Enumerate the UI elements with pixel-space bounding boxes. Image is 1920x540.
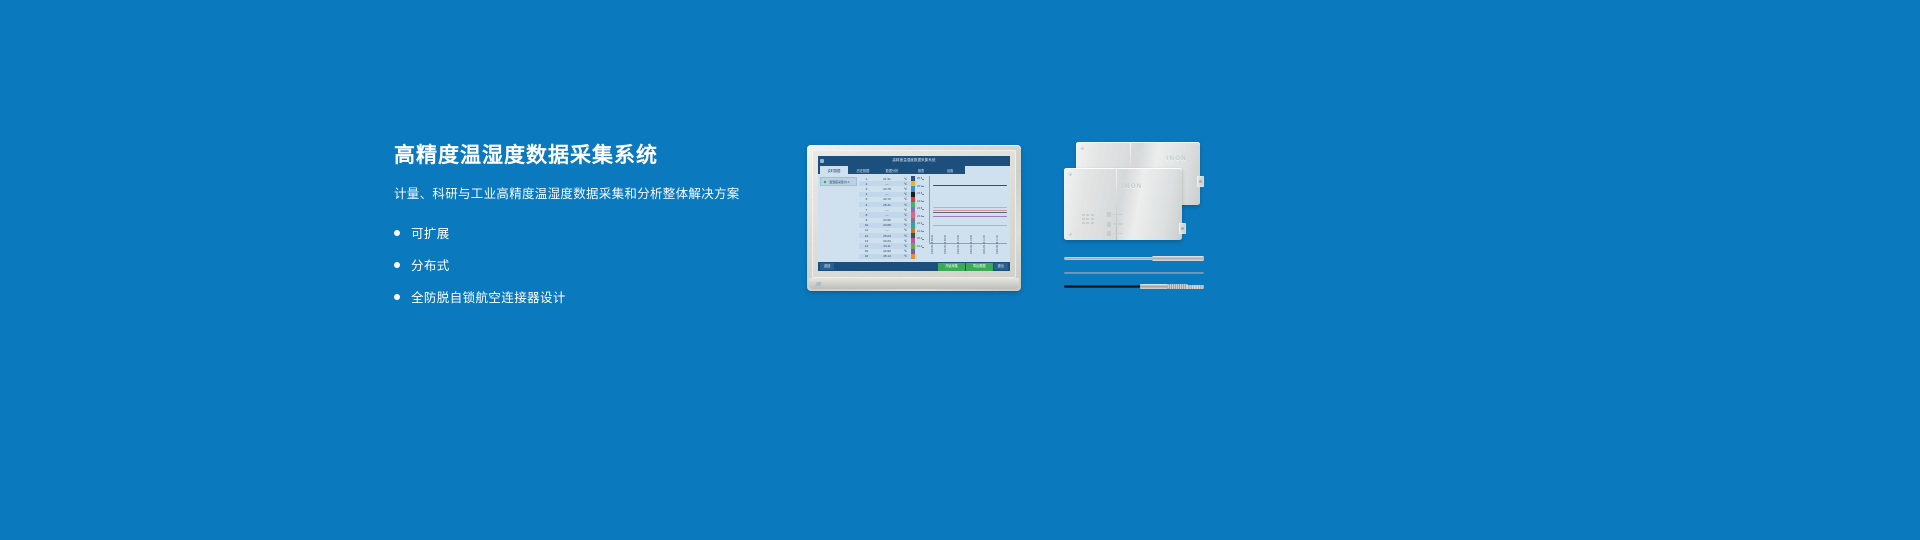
y-axis-tick-label: 20.0 <box>917 237 922 240</box>
plot-canvas <box>929 176 1007 244</box>
tab-analysis[interactable]: 数据分析 <box>878 166 906 174</box>
table-row[interactable]: 524.72℃ <box>859 197 917 202</box>
x-axis-tick-label: 2023-05-18 10:00 <box>957 235 960 254</box>
plot-area: 25.525.024.524.023.523.022.021.020.019.0… <box>917 176 1008 254</box>
channel-unit: ℃ <box>900 218 911 222</box>
chart-series-line <box>933 210 1007 211</box>
table-row[interactable]: 1324.23℃ <box>859 238 917 243</box>
channel-unit: ℃ <box>900 182 911 186</box>
channel-number: 1 <box>859 177 874 181</box>
bottom-button-group: 开始采集 导出数据 退出 <box>938 263 1008 271</box>
probe-cable <box>1064 272 1204 274</box>
tab-settings[interactable]: 设置 <box>936 166 964 174</box>
tab-realtime[interactable]: 实时数据 <box>820 166 848 174</box>
bullet-dot-icon <box>394 294 400 300</box>
list-item: 可扩展 <box>394 220 794 245</box>
channel-number: 13 <box>859 239 874 243</box>
table-row[interactable]: 924.96℃ <box>859 218 917 223</box>
channel-value: --- <box>874 208 900 212</box>
probe-rtd <box>1064 256 1204 261</box>
enclosure-front: INON <box>1064 168 1182 240</box>
bullet-dot-icon <box>394 230 400 236</box>
bullet-dot-icon <box>394 262 400 268</box>
brand-logo-back: INON <box>1166 156 1187 162</box>
channel-value: --- <box>874 182 900 186</box>
channel-unit: ℃ <box>900 244 911 248</box>
y-axis: 25.525.024.524.023.523.022.021.020.019.0 <box>917 176 928 254</box>
tab-report[interactable]: 报表 <box>907 166 935 174</box>
channel-number: 16 <box>859 254 874 258</box>
channel-number: 5 <box>859 197 874 201</box>
channel-number: 3 <box>859 187 874 191</box>
x-axis-tick-label: 2023-05-18 11:30 <box>996 235 999 254</box>
table-row[interactable]: 8---℃ <box>859 212 917 217</box>
channel-value: 25.14 <box>874 254 900 258</box>
probe-cable <box>1064 257 1156 259</box>
channel-value: 24.79 <box>874 187 900 191</box>
export-data-button[interactable]: 导出数据 <box>966 263 993 271</box>
channel-number: 4 <box>859 192 874 196</box>
chart-series-line <box>933 212 1007 213</box>
back-button[interactable]: 返回 <box>820 263 834 270</box>
chart-series-line <box>933 225 1007 226</box>
table-row[interactable]: 1225.04℃ <box>859 233 917 238</box>
channel-number: 11 <box>859 228 874 232</box>
table-row[interactable]: 4---℃ <box>859 192 917 197</box>
etched-label-graphic <box>1107 212 1123 241</box>
channel-value: --- <box>874 192 900 196</box>
channel-number: 8 <box>859 213 874 217</box>
probe-product-images <box>1064 256 1204 296</box>
table-row[interactable]: 2---℃ <box>859 181 917 186</box>
feature-list: 可扩展 分布式 全防脱自锁航空连接器设计 <box>394 220 794 309</box>
channel-unit: ℃ <box>900 213 911 217</box>
channel-unit: ℃ <box>900 234 911 238</box>
x-axis-tick-label: 2023-05-18 09:00 <box>931 235 934 254</box>
connector-tab <box>1179 223 1186 234</box>
tab-bar-filler <box>965 166 1010 174</box>
channel-value: 24.23 <box>874 239 900 243</box>
app-title: 高精度温湿度数据采集系统 <box>892 156 935 165</box>
device-tree-panel: 温湿度采集仪-1 <box>818 174 859 262</box>
channel-value: 25.41 <box>874 203 900 207</box>
y-axis-tick-label: 24.0 <box>917 200 922 203</box>
table-row[interactable]: 625.41℃ <box>859 202 917 207</box>
x-axis: 2023-05-18 09:002023-05-18 09:302023-05-… <box>929 244 1007 254</box>
monitor-bezel: 高精度温湿度数据采集系统 实时数据 历史数据 数据分析 报表 设置 温湿度采集仪… <box>807 145 1021 291</box>
channel-number: 7 <box>859 208 874 212</box>
table-row[interactable]: 1424.11℃ <box>859 243 917 248</box>
screw-icon <box>1068 232 1072 236</box>
channel-table: 121.31℃2---℃324.79℃4---℃524.72℃625.41℃7-… <box>859 174 917 262</box>
screw-icon <box>1080 146 1084 150</box>
channel-value: --- <box>874 213 900 217</box>
channel-value: --- <box>874 228 900 232</box>
start-acquisition-button[interactable]: 开始采集 <box>938 263 965 271</box>
probe-humidity <box>1064 270 1204 275</box>
brand-logo-front: INON <box>1122 184 1143 190</box>
channel-number: 10 <box>859 223 874 227</box>
page-title: 高精度温湿度数据采集系统 <box>394 143 794 169</box>
table-row[interactable]: 1524.90℃ <box>859 249 917 254</box>
table-row[interactable]: 7---℃ <box>859 207 917 212</box>
connector-tab <box>1197 176 1204 187</box>
y-axis-tick-label: 23.0 <box>917 215 922 218</box>
channel-unit: ℃ <box>900 197 911 201</box>
chart-series-line <box>933 216 1007 217</box>
channel-unit: ℃ <box>900 203 911 207</box>
table-row[interactable]: 1024.88℃ <box>859 223 917 228</box>
app-bottom-bar: 返回 开始采集 导出数据 退出 <box>818 262 1010 271</box>
y-axis-tick-label: 19.0 <box>917 245 922 248</box>
y-axis-tick-label: 23.5 <box>917 207 922 210</box>
channel-value: 24.88 <box>874 223 900 227</box>
probe-sintered-tip <box>1187 285 1204 289</box>
channel-unit: ℃ <box>900 187 911 191</box>
channel-number: 9 <box>859 218 874 222</box>
channel-unit: ℃ <box>900 249 911 253</box>
channel-value: 24.72 <box>874 197 900 201</box>
monitor-base <box>809 278 1019 289</box>
channel-unit: ℃ <box>900 223 911 227</box>
x-axis-tick-label: 2023-05-18 11:00 <box>983 235 986 254</box>
app-body: 温湿度采集仪-1 121.31℃2---℃324.79℃4---℃524.72℃… <box>818 174 1010 262</box>
probe-aviation-connector <box>1064 284 1204 289</box>
app-tab-bar: 实时数据 历史数据 数据分析 报表 设置 <box>818 165 1010 174</box>
table-row[interactable]: 324.79℃ <box>859 186 917 191</box>
channel-value: 24.96 <box>874 218 900 222</box>
channel-value: 24.11 <box>874 244 900 248</box>
y-axis-tick-label: 25.5 <box>917 177 922 180</box>
panel-pc-product-image: 高精度温湿度数据采集系统 实时数据 历史数据 数据分析 报表 设置 温湿度采集仪… <box>807 145 1021 295</box>
page-subtitle: 计量、科研与工业高精度温湿度数据采集和分析整体解决方案 <box>394 185 794 203</box>
feature-label: 全防脱自锁航空连接器设计 <box>411 287 566 306</box>
channel-value: 25.04 <box>874 234 900 238</box>
channel-number: 6 <box>859 203 874 207</box>
channel-number: 15 <box>859 249 874 253</box>
x-axis-tick-label: 2023-05-18 10:30 <box>970 235 973 254</box>
probe-cable <box>1064 285 1142 288</box>
channel-number: 14 <box>859 244 874 248</box>
channel-color-swatch <box>911 254 915 259</box>
list-item: 分布式 <box>394 252 794 277</box>
exit-button[interactable]: 退出 <box>994 263 1008 270</box>
probe-knurled-nut <box>1168 284 1188 289</box>
banner-copy: 高精度温湿度数据采集系统 计量、科研与工业高精度温湿度数据采集和分析整体解决方案… <box>394 143 794 316</box>
window-menu-icon[interactable] <box>820 159 824 163</box>
y-axis-tick-label: 22.0 <box>917 222 922 225</box>
channel-unit: ℃ <box>900 177 911 181</box>
x-axis-tick-label: 2023-05-18 09:30 <box>944 235 947 254</box>
channel-unit: ℃ <box>900 228 911 232</box>
y-axis-tick-label: 24.5 <box>917 192 922 195</box>
product-banner: 高精度温湿度数据采集系统 计量、科研与工业高精度温湿度数据采集和分析整体解决方案… <box>0 0 1920 540</box>
device-tree-node[interactable]: 温湿度采集仪-1 <box>820 177 857 186</box>
channel-value: 24.90 <box>874 249 900 253</box>
device-node-label: 温湿度采集仪-1 <box>829 180 850 184</box>
y-axis-tick-label: 25.0 <box>917 185 922 188</box>
screw-icon <box>1068 172 1072 176</box>
app-titlebar: 高精度温湿度数据采集系统 <box>818 156 1010 165</box>
chart-series-line <box>933 185 1007 186</box>
table-row[interactable]: 1625.14℃ <box>859 254 917 259</box>
channel-unit: ℃ <box>900 254 911 258</box>
tab-history[interactable]: 历史数据 <box>849 166 877 174</box>
channel-value: 21.31 <box>874 177 900 181</box>
table-row[interactable]: 11---℃ <box>859 228 917 233</box>
feature-label: 分布式 <box>411 255 450 274</box>
probe-tip <box>1152 256 1204 261</box>
channel-unit: ℃ <box>900 208 911 212</box>
online-dot-icon <box>823 180 827 184</box>
probe-body <box>1140 284 1168 289</box>
channel-number: 12 <box>859 234 874 238</box>
channel-unit: ℃ <box>900 192 911 196</box>
feature-label: 可扩展 <box>411 223 450 242</box>
etched-keypad-graphic <box>1082 214 1094 224</box>
y-axis-tick-label: 21.0 <box>917 230 922 233</box>
channel-number: 2 <box>859 182 874 186</box>
trend-chart: 25.525.024.524.023.523.022.021.020.019.0… <box>917 174 1010 262</box>
table-row[interactable]: 121.31℃ <box>859 176 917 181</box>
chart-series-line <box>933 207 1007 208</box>
channel-unit: ℃ <box>900 239 911 243</box>
list-item: 全防脱自锁航空连接器设计 <box>394 284 794 309</box>
monitor-screen: 高精度温湿度数据采集系统 实时数据 历史数据 数据分析 报表 设置 温湿度采集仪… <box>818 156 1010 271</box>
